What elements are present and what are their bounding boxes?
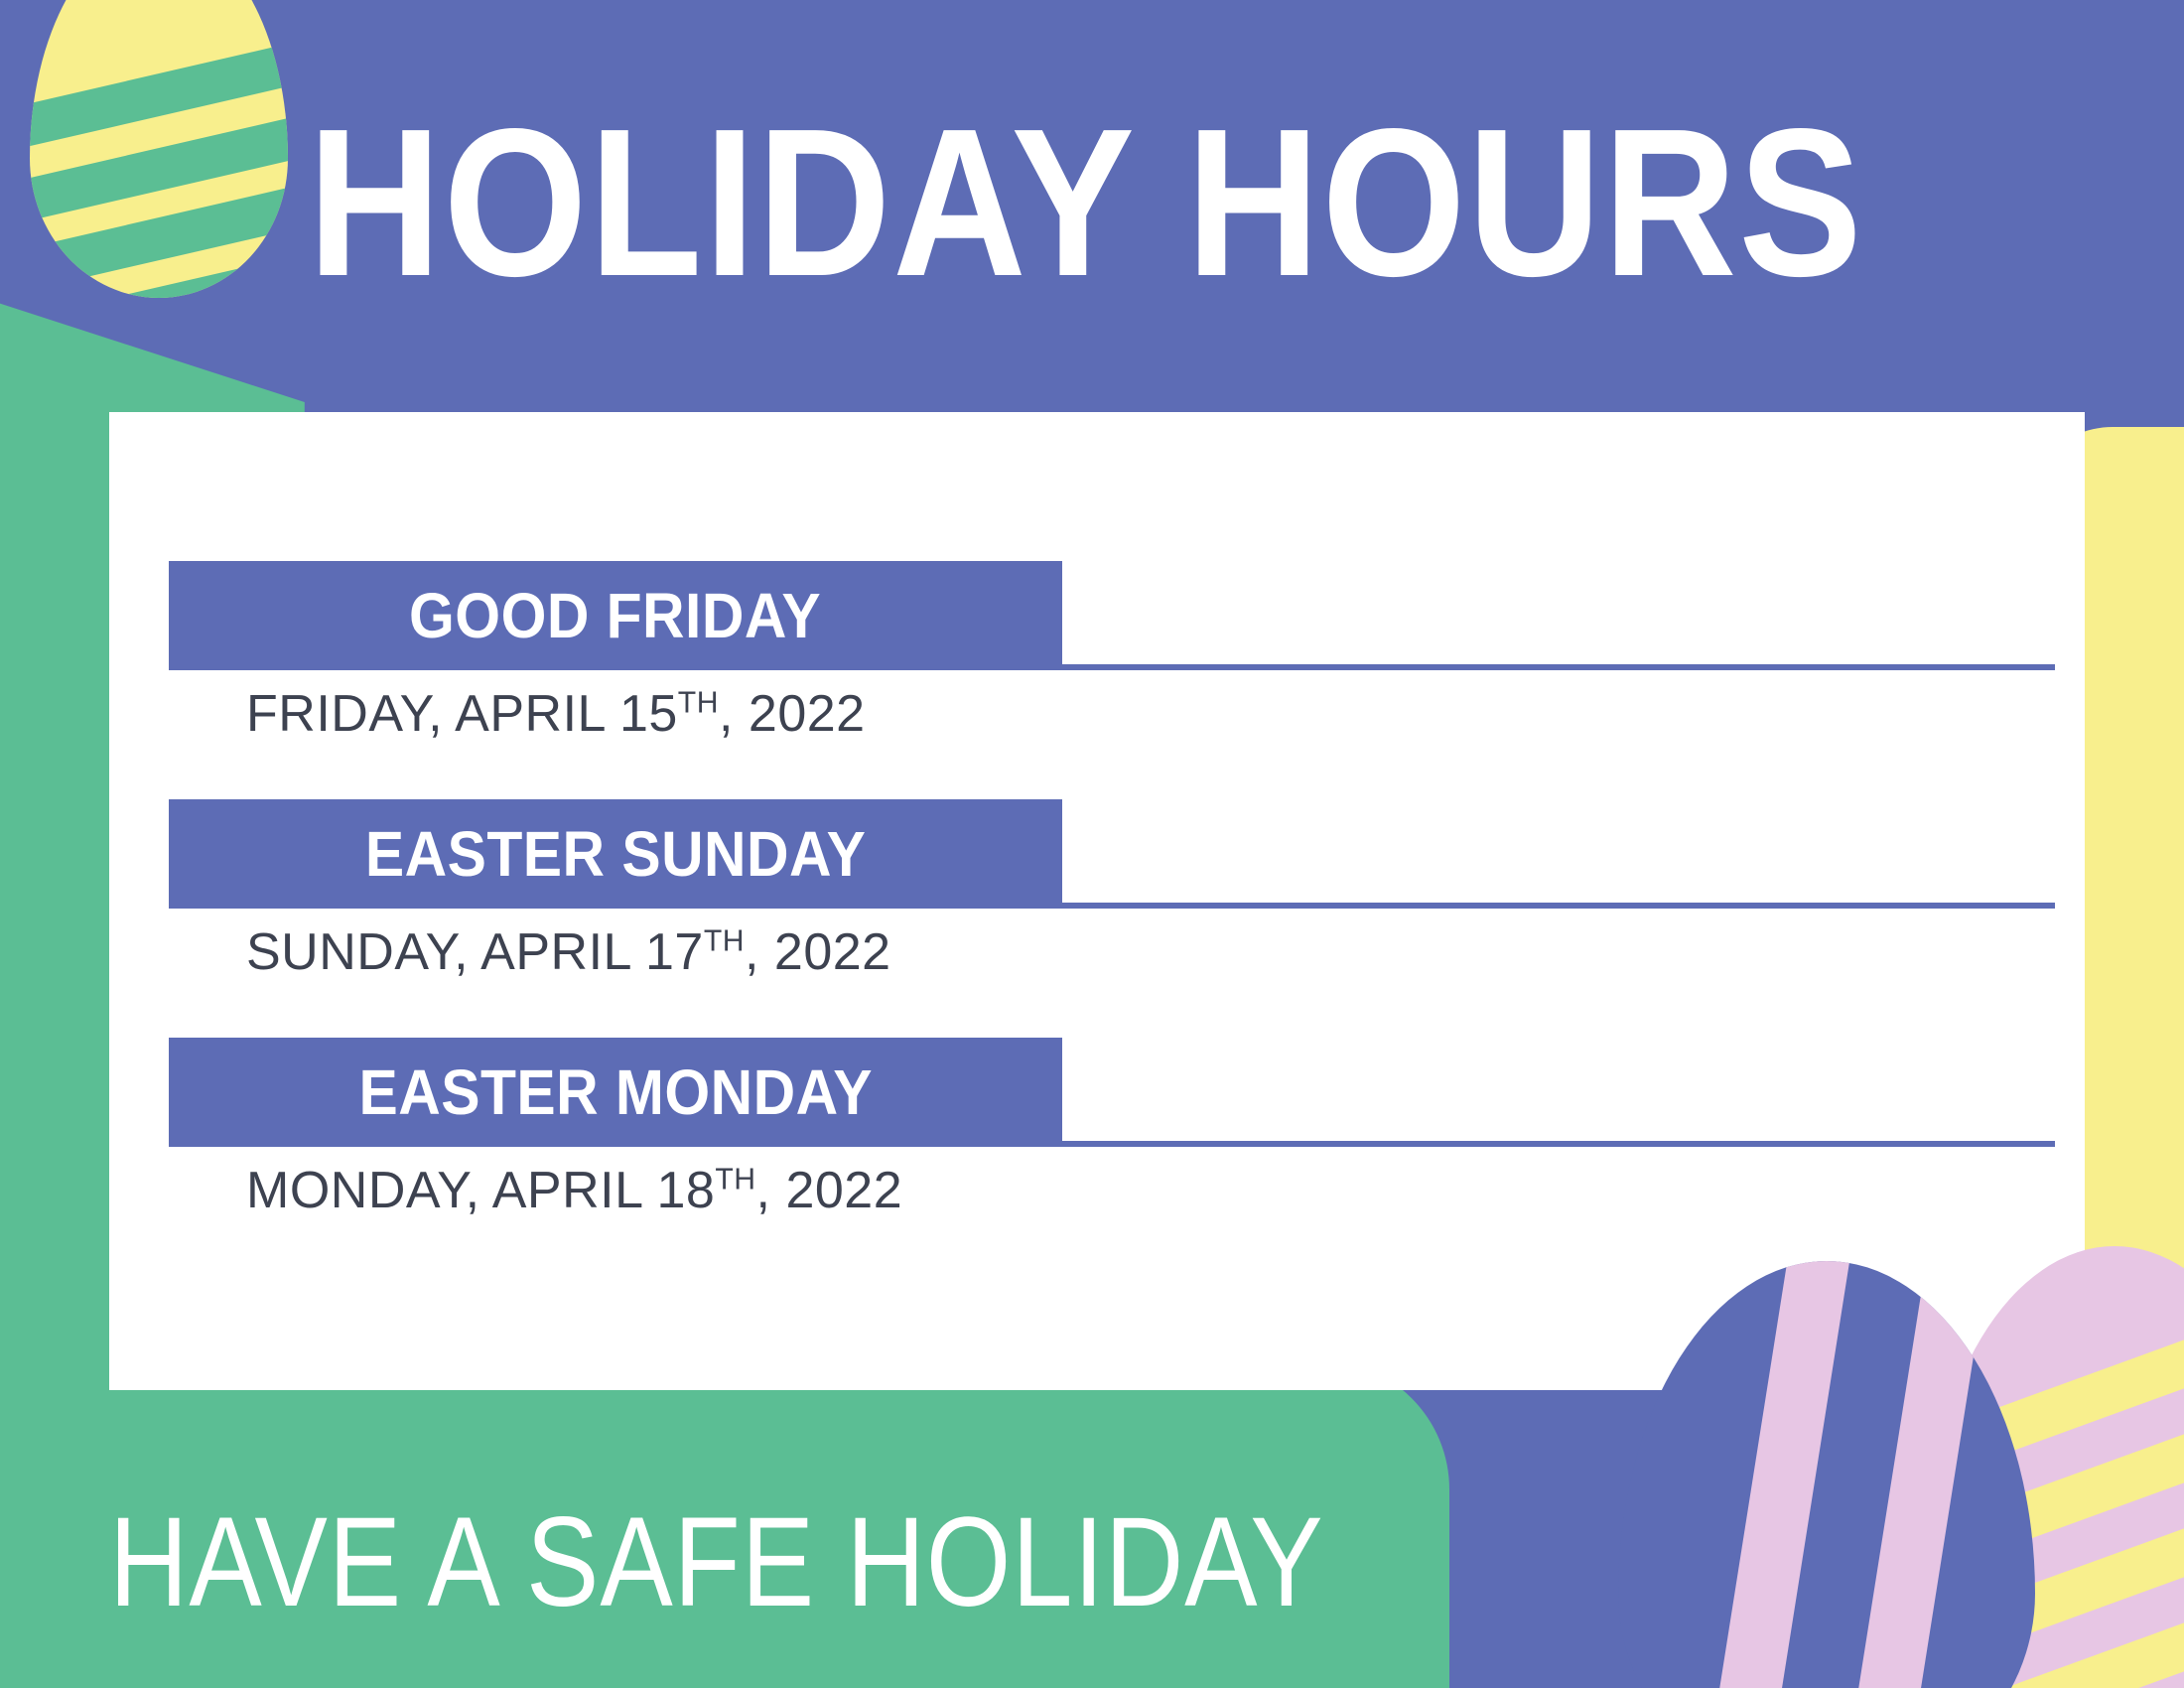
holiday-hours-poster: HOLIDAY HOURS GOOD FRIDAY FRIDAY, APRIL … [0, 0, 2184, 1688]
holiday-date: MONDAY, APRIL 18TH, 2022 [169, 1161, 2095, 1220]
holiday-date-prefix: SUNDAY, APRIL 17 [246, 923, 704, 981]
hours-rule-line [1062, 1141, 2055, 1147]
schedule-row: EASTER SUNDAY SUNDAY, APRIL 17TH, 2022 [169, 799, 2095, 1038]
holiday-date-ordinal: TH [678, 687, 719, 720]
holiday-date: SUNDAY, APRIL 17TH, 2022 [169, 922, 2095, 982]
holiday-name-badge: EASTER SUNDAY [169, 799, 1062, 909]
holiday-name-label: EASTER SUNDAY [365, 817, 866, 891]
holiday-date-prefix: FRIDAY, APRIL 15 [246, 685, 678, 743]
holiday-date-ordinal: TH [704, 925, 745, 958]
egg-stripe [1682, 1261, 1870, 1688]
holiday-date-suffix: , 2022 [745, 923, 891, 981]
footer-message: HAVE A SAFE HOLIDAY [109, 1499, 1324, 1626]
holiday-name-badge: EASTER MONDAY [169, 1038, 1062, 1147]
holiday-date-suffix: , 2022 [719, 685, 866, 743]
hours-rule-line [1062, 903, 2055, 909]
holiday-name-badge: GOOD FRIDAY [169, 561, 1062, 670]
page-title: HOLIDAY HOURS [308, 99, 1793, 306]
holiday-date: FRIDAY, APRIL 15TH, 2022 [169, 684, 2095, 744]
schedule-row: EASTER MONDAY MONDAY, APRIL 18TH, 2022 [169, 1038, 2095, 1276]
holiday-name-label: EASTER MONDAY [358, 1055, 872, 1129]
striped-egg-icon [30, 0, 288, 298]
schedule-card: GOOD FRIDAY FRIDAY, APRIL 15TH, 2022 EAS… [109, 412, 2085, 1390]
schedule-list: GOOD FRIDAY FRIDAY, APRIL 15TH, 2022 EAS… [169, 561, 2095, 1276]
holiday-date-ordinal: TH [715, 1164, 755, 1196]
holiday-date-suffix: , 2022 [756, 1162, 903, 1219]
holiday-date-prefix: MONDAY, APRIL 18 [246, 1162, 715, 1219]
holiday-name-label: GOOD FRIDAY [409, 579, 821, 652]
hours-rule-line [1062, 664, 2055, 670]
schedule-row: GOOD FRIDAY FRIDAY, APRIL 15TH, 2022 [169, 561, 2095, 799]
